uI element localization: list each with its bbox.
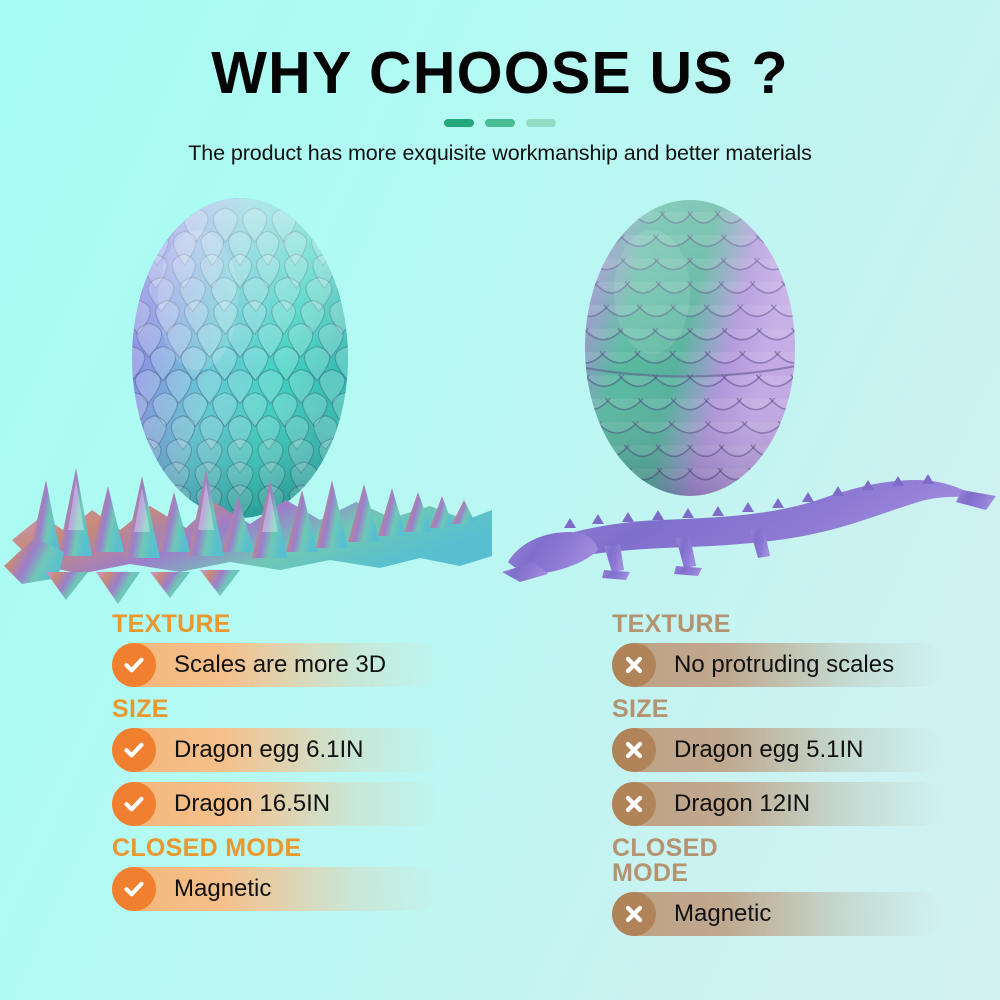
product-image-other (500, 180, 1000, 610)
check-icon (112, 867, 156, 911)
feature-label: Dragon 16.5IN (174, 790, 330, 818)
feature-label: No protruding scales (674, 651, 894, 679)
divider-dash-2 (485, 119, 515, 127)
header: WHY CHOOSE US ? The product has more exq… (0, 0, 1000, 166)
cross-icon (612, 782, 656, 826)
cross-icon (612, 728, 656, 772)
divider-dash-1 (444, 119, 474, 127)
cross-icon (612, 643, 656, 687)
product-image-ours (0, 180, 500, 610)
divider-dashes (444, 119, 556, 127)
feature-pill-background (612, 892, 942, 936)
feature-label: Magnetic (174, 875, 271, 903)
page-subtitle: The product has more exquisite workmansh… (0, 141, 1000, 166)
divider-dash-3 (526, 119, 556, 127)
check-icon (112, 782, 156, 826)
comparison-section: TEXTUREScales are more 3DSIZEDragon egg … (0, 612, 1000, 1000)
feature-label: Dragon egg 5.1IN (674, 736, 863, 764)
feature-label: Magnetic (674, 900, 771, 928)
check-icon (112, 728, 156, 772)
feature-label: Scales are more 3D (174, 651, 386, 679)
feature-label: Dragon egg 6.1IN (174, 736, 363, 764)
feature-label: Dragon 12IN (674, 790, 810, 818)
cross-icon (612, 892, 656, 936)
page-title: WHY CHOOSE US ? (0, 44, 1000, 103)
product-images (0, 180, 1000, 610)
check-icon (112, 643, 156, 687)
